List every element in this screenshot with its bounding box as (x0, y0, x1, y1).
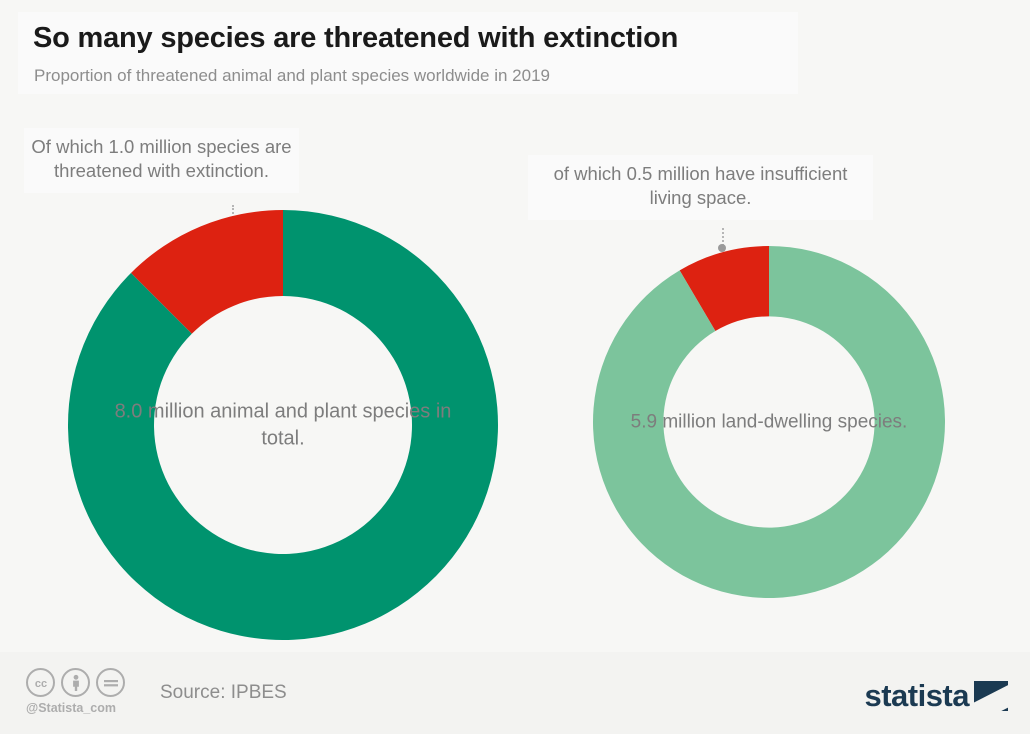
cc-nd-equals-icon (96, 668, 125, 697)
svg-text:cc: cc (34, 678, 46, 690)
creative-commons-badges: cc (26, 668, 125, 697)
cc-icon: cc (26, 668, 55, 697)
page-title: So many species are threatened with exti… (33, 22, 678, 55)
statista-handle: @Statista_com (26, 701, 116, 715)
statista-wordmark: statista (864, 678, 969, 714)
cc-by-person-icon (61, 668, 90, 697)
source-label: Source: IPBES (160, 682, 287, 704)
donut-chart-land-dwelling: 5.9 million land-dwelling species. (593, 246, 945, 598)
donut-right-center-label: 5.9 million land-dwelling species. (628, 409, 910, 434)
donut-left-center-label: 8.0 million animal and plant species in … (111, 398, 455, 451)
page-subtitle: Proportion of threatened animal and plan… (34, 66, 550, 86)
statista-logo-mark (974, 681, 1008, 711)
annotation-left: Of which 1.0 million species are threate… (24, 128, 299, 193)
annotation-right: of which 0.5 million have insufficient l… (528, 155, 873, 220)
infographic-canvas: So many species are threatened with exti… (0, 0, 1030, 734)
donut-chart-total-species: 8.0 million animal and plant species in … (68, 210, 498, 640)
statista-logo: statista (864, 678, 1008, 714)
